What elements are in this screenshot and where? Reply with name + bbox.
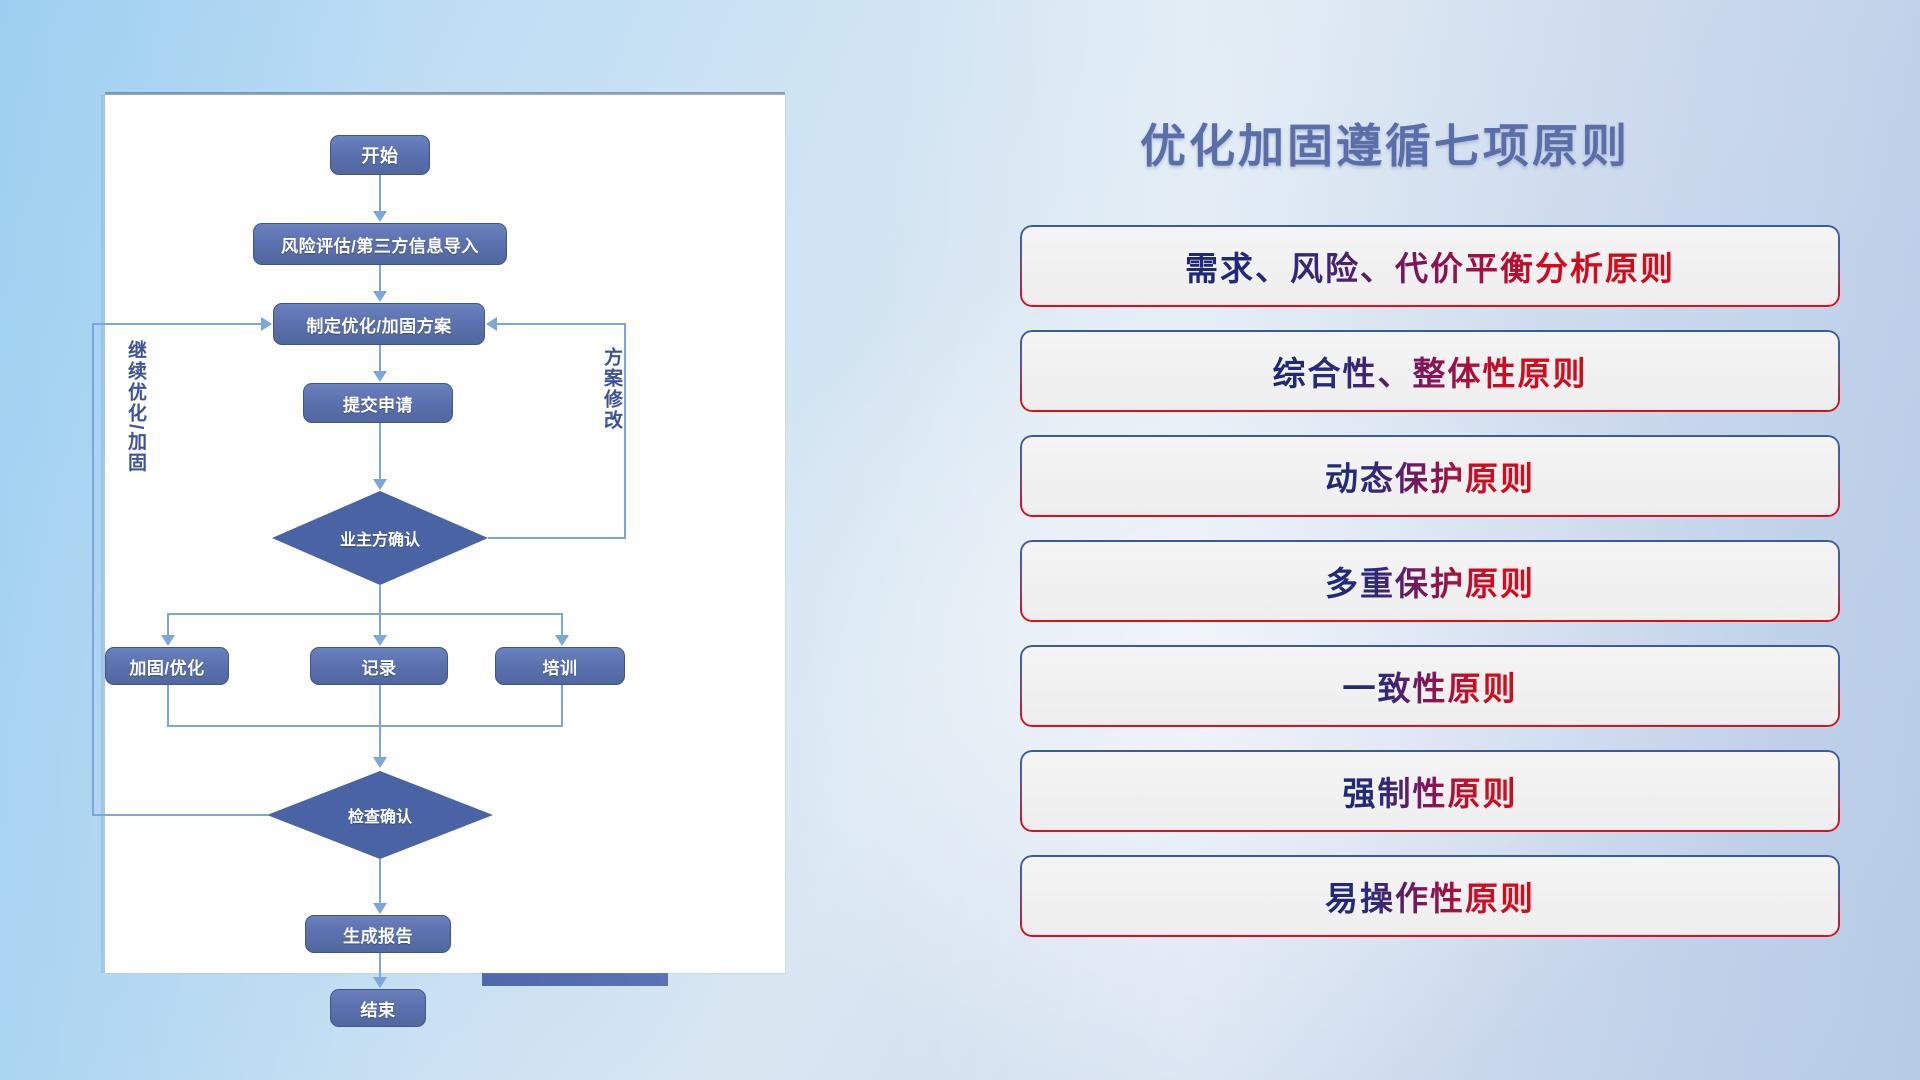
principles-list: 需求、风险、代价平衡分析原则 综合性、整体性原则 动态保护原则 多重保护原则 一… <box>1020 225 1840 960</box>
flow-node-label: 风险评估/第三方信息导入 <box>281 232 479 257</box>
flow-node-reinforce[interactable]: 加固/优化 <box>105 647 229 685</box>
connector-check-report <box>379 859 381 909</box>
connector-left-up <box>92 323 94 816</box>
flow-node-risk-assessment[interactable]: 风险评估/第三方信息导入 <box>253 223 507 265</box>
flow-node-label: 结束 <box>361 996 396 1021</box>
flow-node-record[interactable]: 记录 <box>310 647 448 685</box>
flow-node-label: 提交申请 <box>343 391 413 416</box>
connector-record-down <box>379 685 381 727</box>
arrow-to-reinforce <box>161 635 175 646</box>
connector-right-toplan <box>497 323 626 325</box>
flow-node-report[interactable]: 生成报告 <box>305 915 451 953</box>
flow-node-label: 开始 <box>362 142 399 168</box>
principle-card-1[interactable]: 需求、风险、代价平衡分析原则 <box>1020 225 1840 307</box>
connector-training-down <box>561 685 563 727</box>
flow-node-label: 记录 <box>362 654 397 679</box>
connector-reinforce-down <box>167 685 169 727</box>
flow-node-end[interactable]: 结束 <box>330 989 426 1027</box>
flow-label-plan-revision: 方案修改 <box>601 347 621 431</box>
connector-check-left <box>92 814 268 816</box>
connector-branch-bus <box>167 613 563 615</box>
connector-left-toplan <box>92 323 262 325</box>
flow-node-label: 制定优化/加固方案 <box>306 312 451 337</box>
principles-panel: 优化加固遵循七项原则 需求、风险、代价平衡分析原则 综合性、整体性原则 动态保护… <box>1020 90 1840 1020</box>
flow-node-plan[interactable]: 制定优化/加固方案 <box>273 303 485 345</box>
arrow-left-to-plan <box>261 317 272 331</box>
page-title: 优化加固遵循七项原则 <box>1140 110 1630 176</box>
flow-node-label: 培训 <box>543 654 578 679</box>
principle-card-7[interactable]: 易操作性原则 <box>1020 855 1840 937</box>
arrow-check-report <box>373 903 387 914</box>
flow-decision-owner-confirm[interactable]: 业主方确认 <box>272 491 488 585</box>
flow-decision-check-confirm[interactable]: 检查确认 <box>267 771 493 859</box>
principle-card-5[interactable]: 一致性原则 <box>1020 645 1840 727</box>
connector-right-up <box>624 323 626 539</box>
flow-node-label: 检查确认 <box>348 803 412 827</box>
flow-label-continue-optimize: 继续优化/加固 <box>125 340 145 473</box>
flow-node-start[interactable]: 开始 <box>330 135 430 175</box>
principle-label: 综合性、整体性原则 <box>1273 347 1588 395</box>
principle-label: 一致性原则 <box>1343 662 1518 710</box>
principle-label: 动态保护原则 <box>1325 452 1535 500</box>
arrow-to-record <box>373 635 387 646</box>
principle-label: 强制性原则 <box>1343 767 1518 815</box>
principle-card-2[interactable]: 综合性、整体性原则 <box>1020 330 1840 412</box>
principle-card-4[interactable]: 多重保护原则 <box>1020 540 1840 622</box>
principle-card-6[interactable]: 强制性原则 <box>1020 750 1840 832</box>
connector-owner-right <box>488 537 626 539</box>
arrow-to-training <box>555 635 569 646</box>
arrow-plan-submit <box>373 371 387 382</box>
flow-node-label: 生成报告 <box>343 922 413 947</box>
arrow-risk-plan <box>373 291 387 302</box>
connector-merge-bus <box>167 725 563 727</box>
principle-label: 需求、风险、代价平衡分析原则 <box>1185 242 1675 290</box>
principle-card-3[interactable]: 动态保护原则 <box>1020 435 1840 517</box>
arrow-start-risk <box>373 211 387 222</box>
arrow-report-end <box>373 977 387 988</box>
flow-node-label: 业主方确认 <box>340 526 420 550</box>
arrow-right-to-plan <box>486 317 497 331</box>
flow-node-submit[interactable]: 提交申请 <box>303 383 453 423</box>
principle-label: 易操作性原则 <box>1325 872 1535 920</box>
connector-owner-down <box>379 585 381 615</box>
arrow-submit-owner <box>373 479 387 490</box>
flow-node-label: 加固/优化 <box>129 654 204 679</box>
principle-label: 多重保护原则 <box>1325 557 1535 605</box>
flowchart: 开始 风险评估/第三方信息导入 制定优化/加固方案 提交申请 业主方确认 方案修… <box>105 95 785 973</box>
arrow-merge-to-check <box>373 757 387 768</box>
connector-submit-owner <box>379 423 381 485</box>
flow-node-training[interactable]: 培训 <box>495 647 625 685</box>
